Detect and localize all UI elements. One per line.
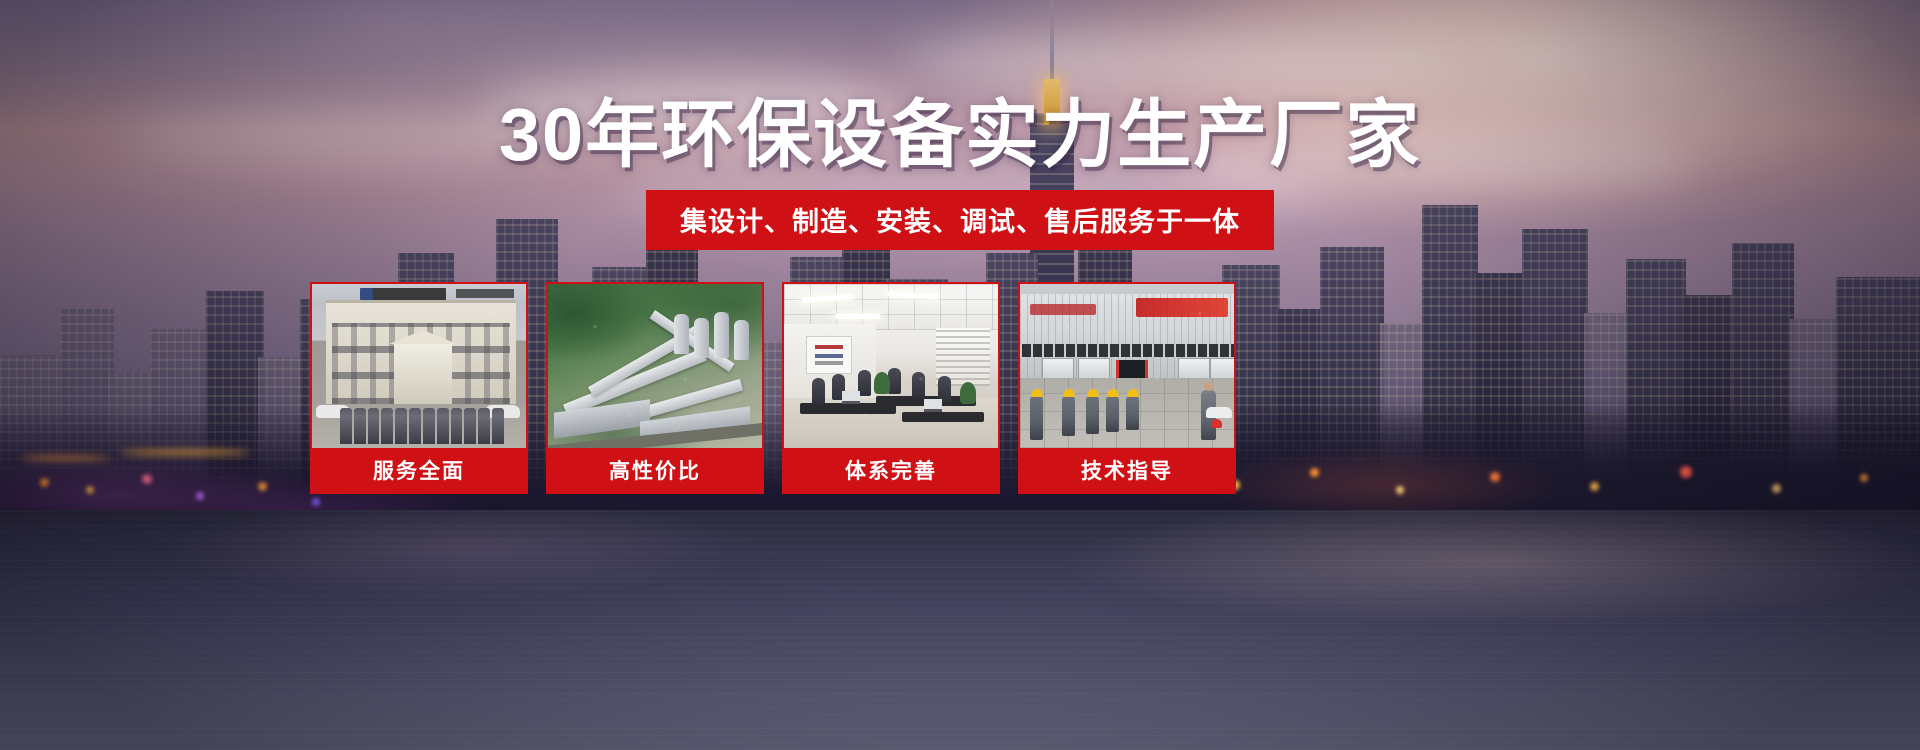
feature-card[interactable]: 服务全面 [310,282,528,494]
card-photo-factory-yard [1020,284,1234,448]
hero-banner: 30年环保设备实力生产厂家 集设计、制造、安装、调试、售后服务于一体 服务 [0,0,1920,750]
wall-slogan-sign [1136,298,1228,317]
company-logo-sign [360,288,446,300]
card-photo-office-interior [784,284,998,448]
card-label: 体系完善 [784,448,998,492]
banner-content: 30年环保设备实力生产厂家 集设计、制造、安装、调试、售后服务于一体 服务 [0,0,1920,750]
card-photo-plant-aerial [548,284,762,448]
subtitle-badge: 集设计、制造、安装、调试、售后服务于一体 [646,190,1274,250]
card-label: 服务全面 [312,448,526,492]
subtitle-container: 集设计、制造、安装、调试、售后服务于一体 [0,190,1920,250]
feature-card[interactable]: 体系完善 [782,282,1000,494]
wall-notice-board [806,336,852,374]
page-title: 30年环保设备实力生产厂家 [0,98,1920,172]
feature-card-list: 服务全面 高性价比 [310,282,1610,494]
card-label: 高性价比 [548,448,762,492]
card-label: 技术指导 [1020,448,1234,492]
feature-card[interactable]: 技术指导 [1018,282,1236,494]
phone-number-sign [456,289,514,298]
feature-card[interactable]: 高性价比 [546,282,764,494]
wall-slogan-sign [1030,304,1096,315]
card-photo-headquarters [312,284,526,448]
